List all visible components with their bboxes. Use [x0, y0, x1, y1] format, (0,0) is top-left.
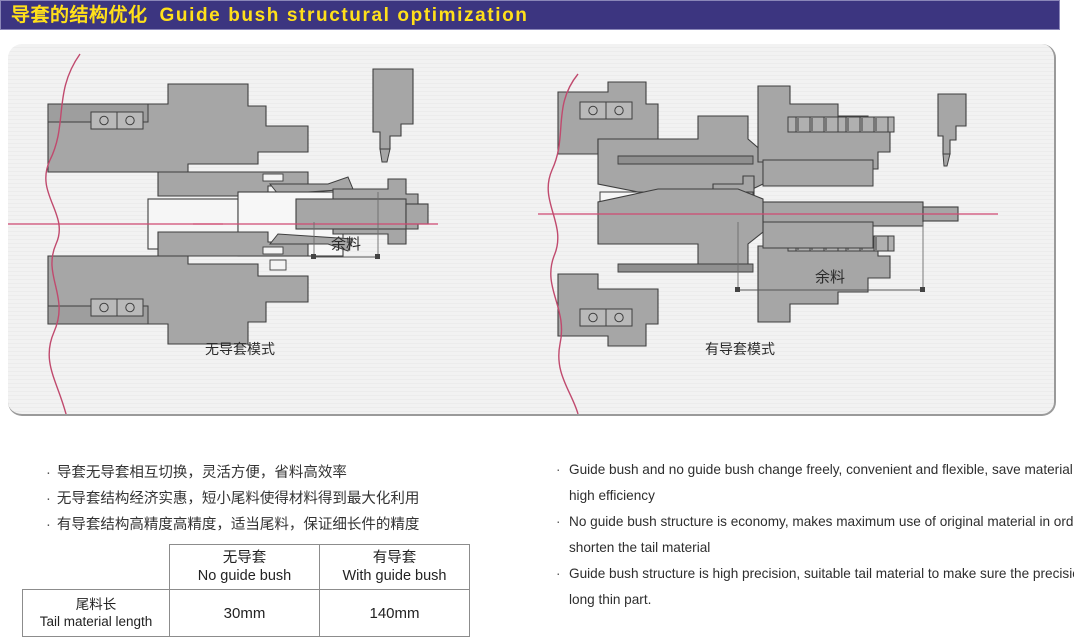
page-header-bar: 导套的结构优化 Guide bush structural optimizati… [0, 0, 1060, 30]
table-header-no-guide-bush-cn: 无导套 [176, 549, 313, 567]
figure-panel: 余料 [8, 44, 1056, 416]
diagram-no-guide-bush: 余料 [8, 54, 438, 416]
table-header-no-guide-bush: 无导套 No guide bush [170, 545, 320, 590]
chinese-bullet-list: 导套无导套相互切换，灵活方便，省料高效率 无导套结构经济实惠，短小尾料使得材料得… [6, 460, 526, 538]
caption-with-guide-bush: 有导套模式 [705, 339, 775, 359]
table-header-with-guide-bush-en: With guide bush [326, 567, 463, 585]
list-item: Guide bush structure is high precision, … [556, 561, 1074, 612]
table-header-with-guide-bush: 有导套 With guide bush [320, 545, 470, 590]
table-row-label-cn: 尾料长 [29, 596, 163, 613]
list-item: 无导套结构经济实惠，短小尾料使得材料得到最大化利用 [46, 486, 526, 512]
caption-no-guide-bush: 无导套模式 [205, 339, 275, 359]
table-header-row: 无导套 No guide bush 有导套 With guide bush [23, 545, 470, 590]
list-item: 有导套结构高精度高精度，适当尾料，保证细长件的精度 [46, 512, 526, 538]
table-row-label-tail-material: 尾料长 Tail material length [23, 590, 170, 637]
english-bullet-list: Guide bush and no guide bush change free… [516, 457, 1074, 613]
list-item: No guide bush structure is economy, make… [556, 509, 1074, 560]
table-corner-cell [23, 545, 170, 590]
list-item: 导套无导套相互切换，灵活方便，省料高效率 [46, 460, 526, 486]
table-row: 尾料长 Tail material length 30mm 140mm [23, 590, 470, 637]
left-dimension-label: 余料 [331, 235, 361, 253]
diagram-with-guide-bush: 余料 [538, 74, 998, 414]
right-dimension-label: 余料 [815, 268, 845, 286]
table-cell-no-guide-bush-value: 30mm [170, 590, 320, 637]
list-item: Guide bush and no guide bush change free… [556, 457, 1074, 508]
page-title-english: Guide bush structural optimization [160, 6, 529, 25]
page-title-chinese: 导套的结构优化 [11, 6, 148, 25]
table-header-no-guide-bush-en: No guide bush [176, 567, 313, 585]
table-row-label-en: Tail material length [29, 613, 163, 630]
tail-material-table: 无导套 No guide bush 有导套 With guide bush 尾料… [22, 544, 470, 637]
table-header-with-guide-bush-cn: 有导套 [326, 549, 463, 567]
table-cell-with-guide-bush-value: 140mm [320, 590, 470, 637]
machine-diagrams: 余料 [8, 44, 1056, 416]
